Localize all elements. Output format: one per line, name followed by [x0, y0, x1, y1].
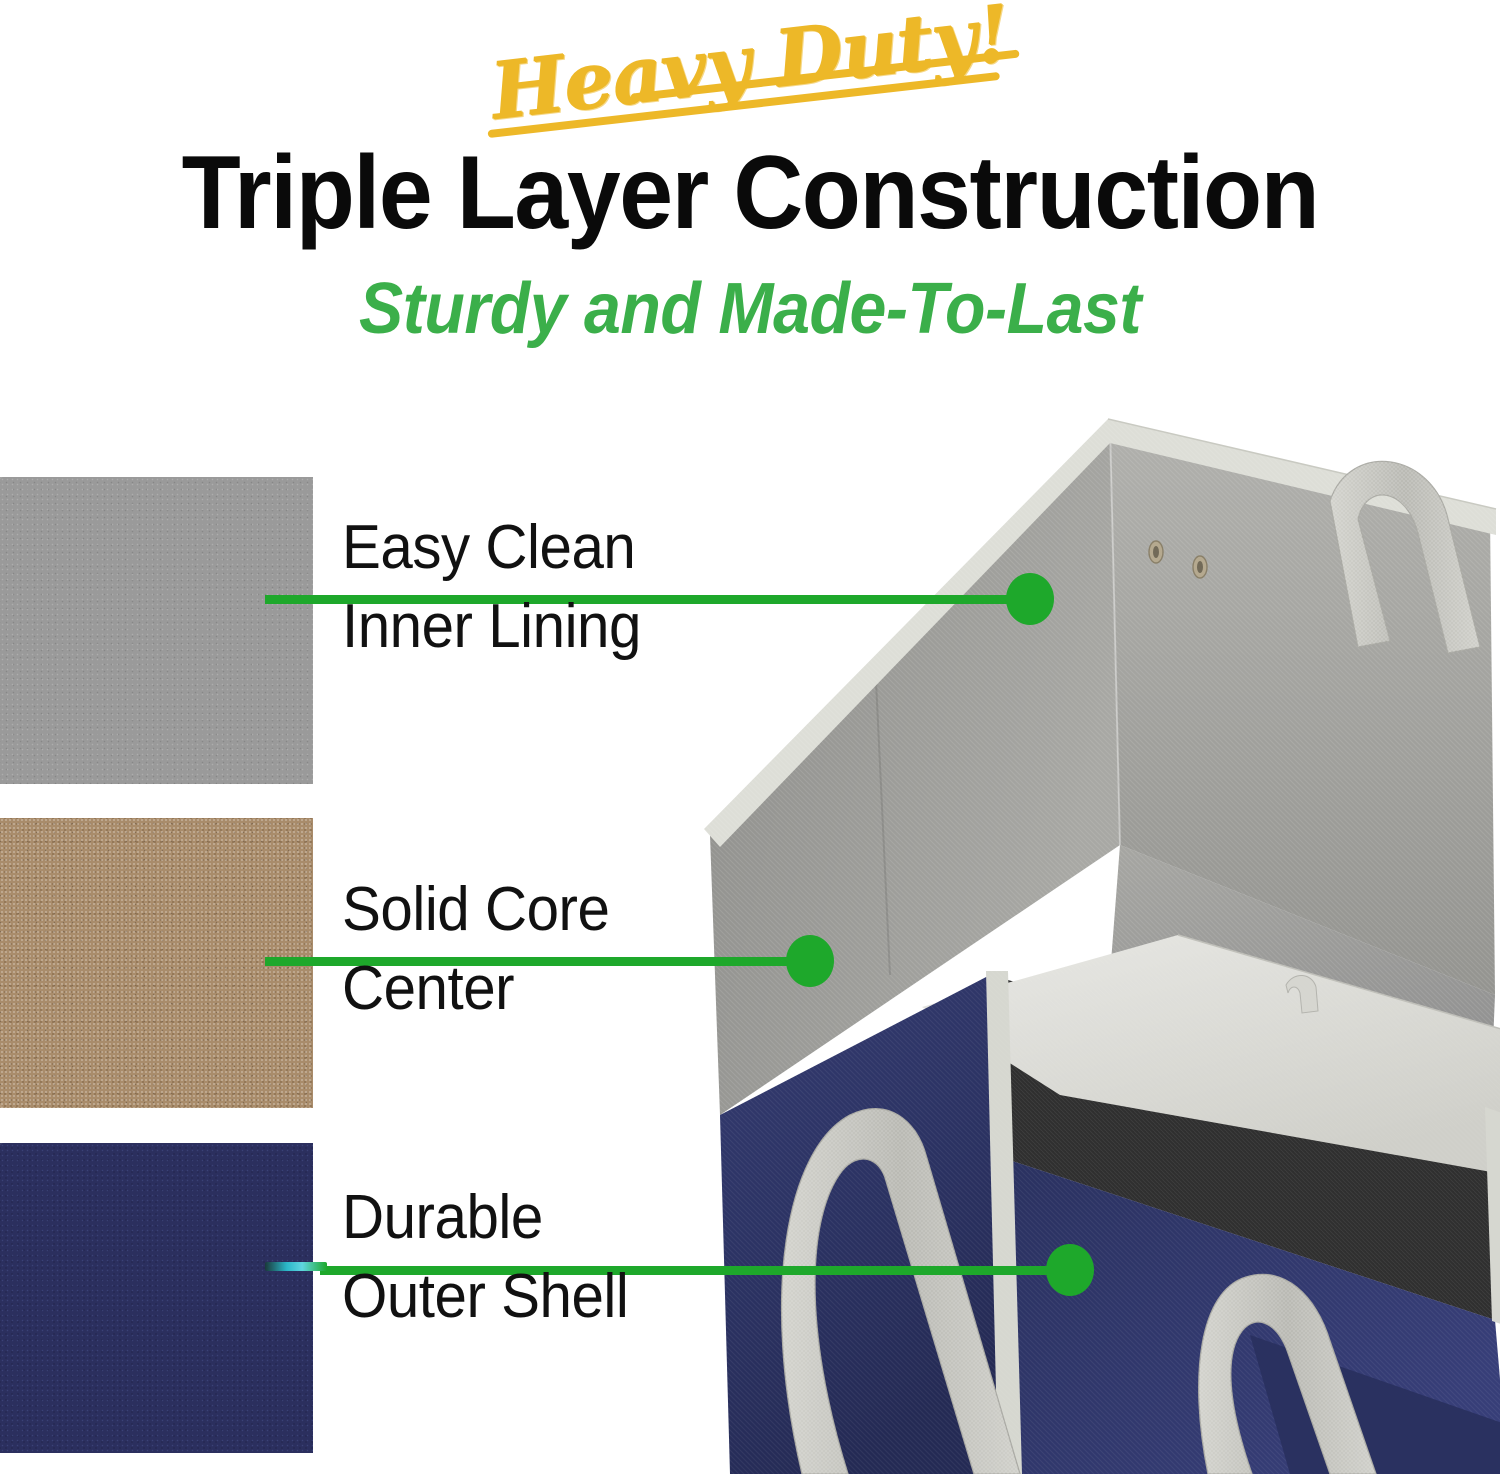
callout-label-inner-lining: Easy Clean Inner Lining — [342, 508, 641, 667]
easy-clean-inner-lining-swatch — [0, 477, 313, 784]
lining-texture-overlay — [0, 477, 313, 784]
page-title: Triple Layer Construction — [53, 140, 1448, 246]
callout-label-inner-lining-line2: Inner Lining — [342, 587, 641, 666]
callout-label-outer-shell-line1: Durable — [342, 1178, 628, 1257]
page-subtitle: Sturdy and Made-To-Last — [60, 272, 1440, 348]
callout-dot-outer-shell — [1046, 1244, 1094, 1296]
callout-label-solid-core-line2: Center — [342, 949, 609, 1028]
kicker-label: Heavy Duty! — [486, 0, 1014, 137]
infographic-root: Heavy Duty! Triple Layer Construction St… — [0, 0, 1500, 1474]
callout-label-inner-lining-line1: Easy Clean — [342, 508, 641, 587]
callout-label-solid-core-line1: Solid Core — [342, 870, 609, 949]
kicker-text: Heavy Duty! — [474, 0, 1026, 147]
callout-label-solid-core: Solid Core Center — [342, 870, 609, 1029]
shell-texture-overlay — [0, 1143, 313, 1453]
callout-label-outer-shell-line2: Outer Shell — [342, 1257, 628, 1336]
kicker-banner: Heavy Duty! — [0, 18, 1500, 138]
durable-outer-shell-swatch — [0, 1143, 313, 1453]
callout-label-outer-shell: Durable Outer Shell — [342, 1178, 628, 1337]
callout-dot-inner-lining — [1006, 573, 1054, 625]
callout-dot-solid-core — [786, 935, 834, 987]
